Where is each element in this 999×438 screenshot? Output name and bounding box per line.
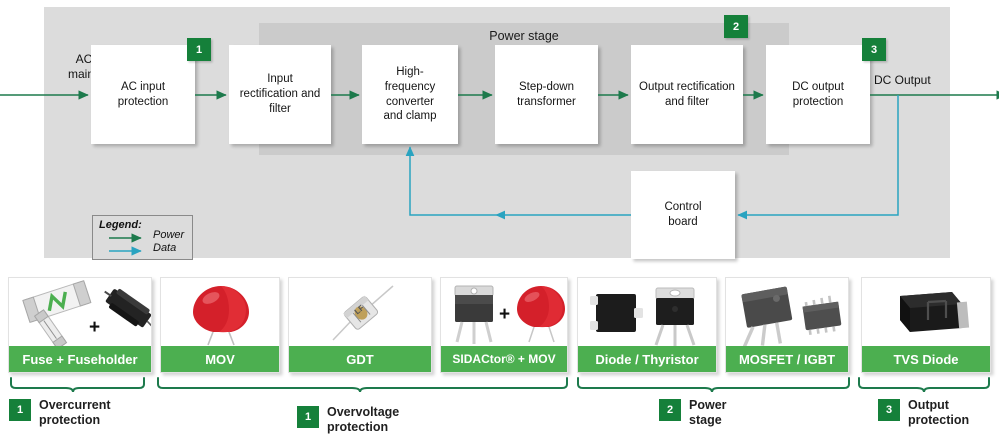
group-label-output-line2: protection	[908, 413, 969, 428]
group-label-power-stage-line1: Power	[689, 398, 727, 413]
group-label-overcurrent-line1: Overcurrent	[39, 398, 111, 413]
group-label-output-protection: Output protection	[908, 398, 969, 429]
group-label-overvoltage-protection: Overvoltage protection	[327, 405, 399, 436]
psu-block-diagram-page: Power stage AC mains DC Output AC input …	[0, 0, 999, 438]
group-brackets	[0, 0, 999, 438]
badge-1-ac-input-protection[interactable]: 1	[187, 38, 211, 61]
group-badge-1-overvoltage[interactable]: 1	[297, 406, 319, 428]
badge-2-power-stage[interactable]: 2	[724, 15, 748, 38]
group-badge-3-output-protection[interactable]: 3	[878, 399, 900, 421]
group-label-overcurrent-protection: Overcurrent protection	[39, 398, 111, 429]
group-label-output-line1: Output	[908, 398, 969, 413]
group-label-power-stage-line2: stage	[689, 413, 727, 428]
group-label-overvoltage-line2: protection	[327, 420, 399, 435]
group-badge-2-power-stage[interactable]: 2	[659, 399, 681, 421]
group-badge-1-overcurrent[interactable]: 1	[9, 399, 31, 421]
group-label-overvoltage-line1: Overvoltage	[327, 405, 399, 420]
group-label-overcurrent-line2: protection	[39, 413, 111, 428]
group-label-power-stage: Power stage	[689, 398, 727, 429]
badge-3-dc-output-protection[interactable]: 3	[862, 38, 886, 61]
